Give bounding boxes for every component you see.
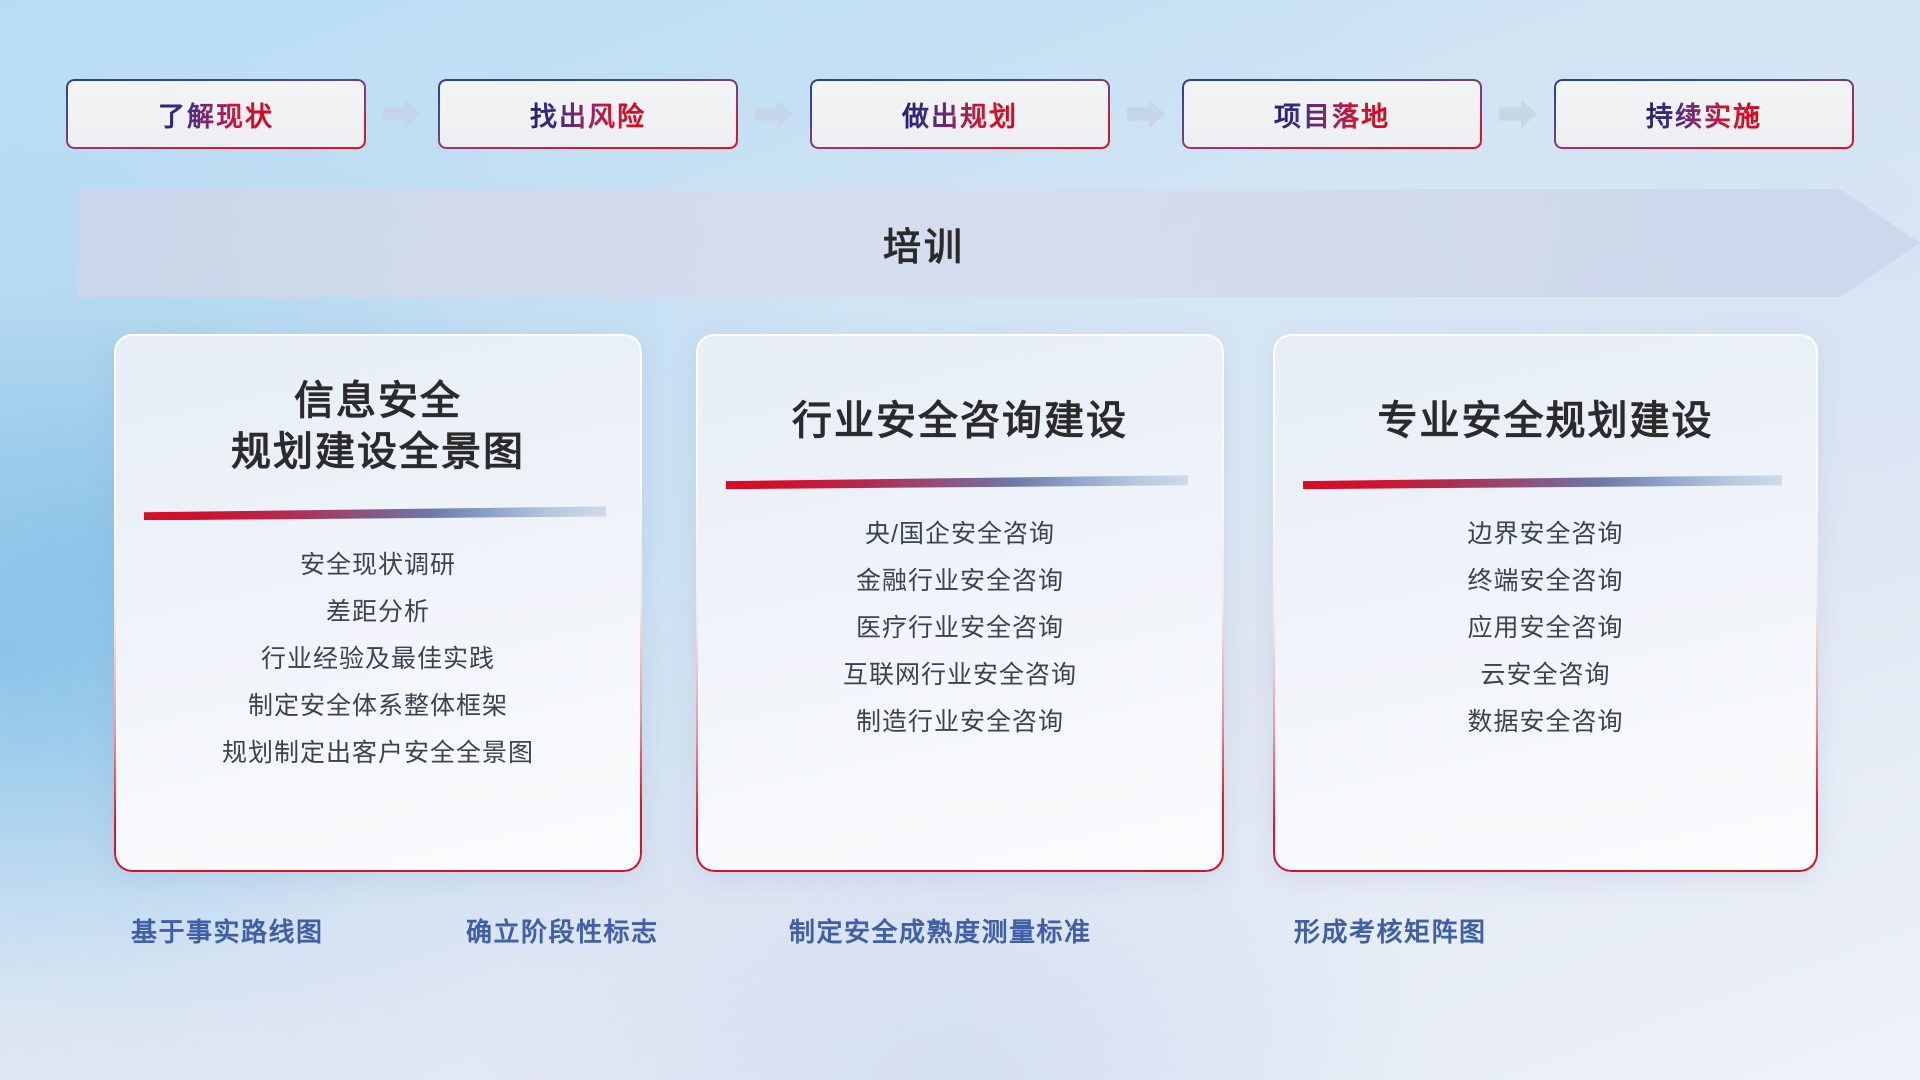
divider-gradient-bar xyxy=(1303,475,1782,489)
list-item: 制造行业安全咨询 xyxy=(714,699,1206,746)
footer-label-2: 制定安全成熟度测量标准 xyxy=(789,912,1092,949)
footer-label-3: 形成考核矩阵图 xyxy=(1294,912,1487,949)
list-item: 终端安全咨询 xyxy=(1291,558,1800,605)
list-item: 安全现状调研 xyxy=(132,542,624,589)
step-label-1: 找出风险 xyxy=(530,95,646,134)
step-arrow-1 xyxy=(738,79,810,149)
step-chip-4[interactable]: 持续实施 xyxy=(1554,79,1854,149)
card-list-1: 央/国企安全咨询 金融行业安全咨询 医疗行业安全咨询 互联网行业安全咨询 制造行… xyxy=(696,511,1224,746)
slide-canvas: 了解现状 找出风险 做出规划 项目落地 持续实施 培训 xyxy=(0,0,1920,1080)
step-chip-1[interactable]: 找出风险 xyxy=(438,79,738,149)
card-industry-security-consulting[interactable]: 行业安全咨询建设 央/国企安全咨询 金融行业安全咨询 医疗行业安全咨询 互联网行… xyxy=(696,334,1224,872)
card-title-2: 专业安全规划建设 xyxy=(1273,396,1818,447)
card-title-1: 行业安全咨询建设 xyxy=(696,396,1224,447)
list-item: 应用安全咨询 xyxy=(1291,605,1800,652)
divider-gradient-bar xyxy=(144,506,606,520)
step-label-2: 做出规划 xyxy=(902,95,1018,134)
step-label-3: 项目落地 xyxy=(1274,95,1390,134)
step-arrow-0 xyxy=(366,79,438,149)
list-item: 互联网行业安全咨询 xyxy=(714,652,1206,699)
step-chip-0[interactable]: 了解现状 xyxy=(66,79,366,149)
card-divider-0 xyxy=(114,500,642,526)
list-item: 医疗行业安全咨询 xyxy=(714,605,1206,652)
list-item: 云安全咨询 xyxy=(1291,652,1800,699)
list-item: 行业经验及最佳实践 xyxy=(132,636,624,683)
list-item: 制定安全体系整体框架 xyxy=(132,683,624,730)
banner-title: 培训 xyxy=(78,189,1770,297)
list-item: 数据安全咨询 xyxy=(1291,699,1800,746)
card-list-0: 安全现状调研 差距分析 行业经验及最佳实践 制定安全体系整体框架 规划制定出客户… xyxy=(114,542,642,777)
footer-label-1: 确立阶段性标志 xyxy=(466,912,659,949)
list-item: 规划制定出客户安全全景图 xyxy=(132,730,624,777)
step-arrow-3 xyxy=(1482,79,1554,149)
step-label-0: 了解现状 xyxy=(158,95,274,134)
list-item: 边界安全咨询 xyxy=(1291,511,1800,558)
arrow-right-icon xyxy=(755,99,793,129)
card-divider-2 xyxy=(1273,469,1818,495)
card-row: 信息安全 规划建设全景图 安全现状调研 差距分析 行业经验及最佳实践 制定安全体… xyxy=(0,334,1920,879)
footer-label-row: 基于事实路线图 确立阶段性标志 制定安全成熟度测量标准 形成考核矩阵图 xyxy=(0,912,1920,962)
card-title-0: 信息安全 规划建设全景图 xyxy=(114,376,642,478)
card-divider-1 xyxy=(696,469,1224,495)
arrow-right-icon xyxy=(1499,99,1537,129)
card-list-2: 边界安全咨询 终端安全咨询 应用安全咨询 云安全咨询 数据安全咨询 xyxy=(1273,511,1818,746)
list-item: 央/国企安全咨询 xyxy=(714,511,1206,558)
list-item: 金融行业安全咨询 xyxy=(714,558,1206,605)
step-chip-3[interactable]: 项目落地 xyxy=(1182,79,1482,149)
step-arrow-2 xyxy=(1110,79,1182,149)
list-item: 差距分析 xyxy=(132,589,624,636)
divider-gradient-bar xyxy=(726,475,1188,489)
process-step-row: 了解现状 找出风险 做出规划 项目落地 持续实施 xyxy=(66,79,1854,149)
card-information-security-blueprint[interactable]: 信息安全 规划建设全景图 安全现状调研 差距分析 行业经验及最佳实践 制定安全体… xyxy=(114,334,642,872)
step-label-4: 持续实施 xyxy=(1646,95,1762,134)
arrow-right-icon xyxy=(383,99,421,129)
training-banner: 培训 xyxy=(78,189,1920,297)
footer-label-0: 基于事实路线图 xyxy=(131,912,324,949)
card-professional-security-planning[interactable]: 专业安全规划建设 边界安全咨询 终端安全咨询 应用安全咨询 云安全咨询 数据安全… xyxy=(1273,334,1818,872)
arrow-right-icon xyxy=(1127,99,1165,129)
step-chip-2[interactable]: 做出规划 xyxy=(810,79,1110,149)
